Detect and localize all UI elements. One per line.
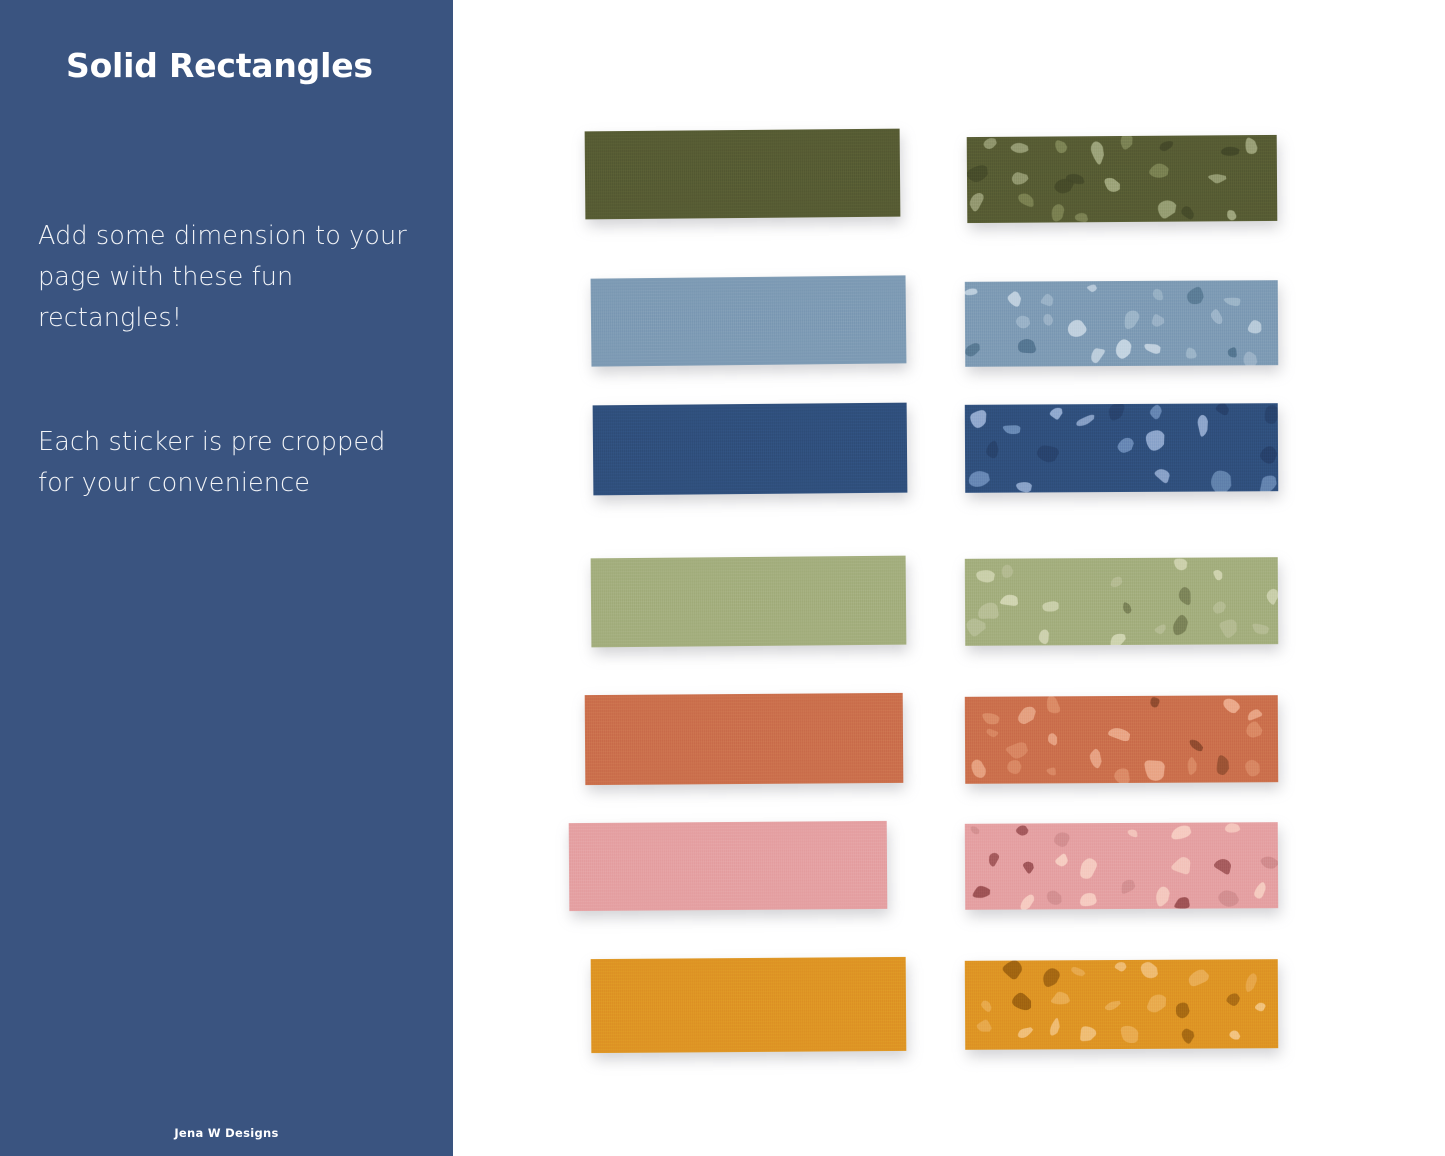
sticker-dusty-pink-patterned[interactable] xyxy=(965,822,1278,910)
sticker-pattern-blobs xyxy=(965,822,1278,910)
sticker-pattern-blobs xyxy=(965,959,1278,1050)
sticker-pattern-blobs xyxy=(965,403,1278,493)
sticker-terracotta-solid[interactable] xyxy=(585,693,904,785)
sticker-dusty-pink-solid[interactable] xyxy=(569,821,888,911)
sticker-sage-green-patterned[interactable] xyxy=(965,557,1278,646)
sticker-golden-mustard-patterned[interactable] xyxy=(965,959,1278,1050)
sticker-navy-blue-solid[interactable] xyxy=(593,403,908,496)
sticker-pattern-blobs xyxy=(967,135,1278,223)
sticker-pattern-blobs xyxy=(965,695,1278,784)
sticker-navy-blue-patterned[interactable] xyxy=(965,403,1278,493)
sticker-sage-green-solid[interactable] xyxy=(591,556,907,648)
description-paragraph-1: Add some dimension to your page with the… xyxy=(38,216,418,339)
sticker-slate-blue-solid[interactable] xyxy=(591,275,907,366)
brand-credit: Jena W Designs xyxy=(0,1126,453,1140)
description-paragraph-2: Each sticker is pre cropped for your con… xyxy=(38,422,418,504)
product-mockup-page: Solid Rectangles Add some dimension to y… xyxy=(0,0,1445,1156)
info-sidebar: Solid Rectangles Add some dimension to y… xyxy=(0,0,453,1156)
sticker-golden-mustard-solid[interactable] xyxy=(591,957,907,1053)
page-title: Solid Rectangles xyxy=(66,46,426,86)
sticker-terracotta-patterned[interactable] xyxy=(965,695,1278,784)
sticker-showcase xyxy=(453,0,1445,1156)
sticker-dark-olive-patterned[interactable] xyxy=(967,135,1278,223)
sticker-pattern-blobs xyxy=(965,280,1278,367)
sticker-dark-olive-solid[interactable] xyxy=(585,129,901,220)
sticker-pattern-blobs xyxy=(965,557,1278,646)
sticker-slate-blue-patterned[interactable] xyxy=(965,280,1278,367)
